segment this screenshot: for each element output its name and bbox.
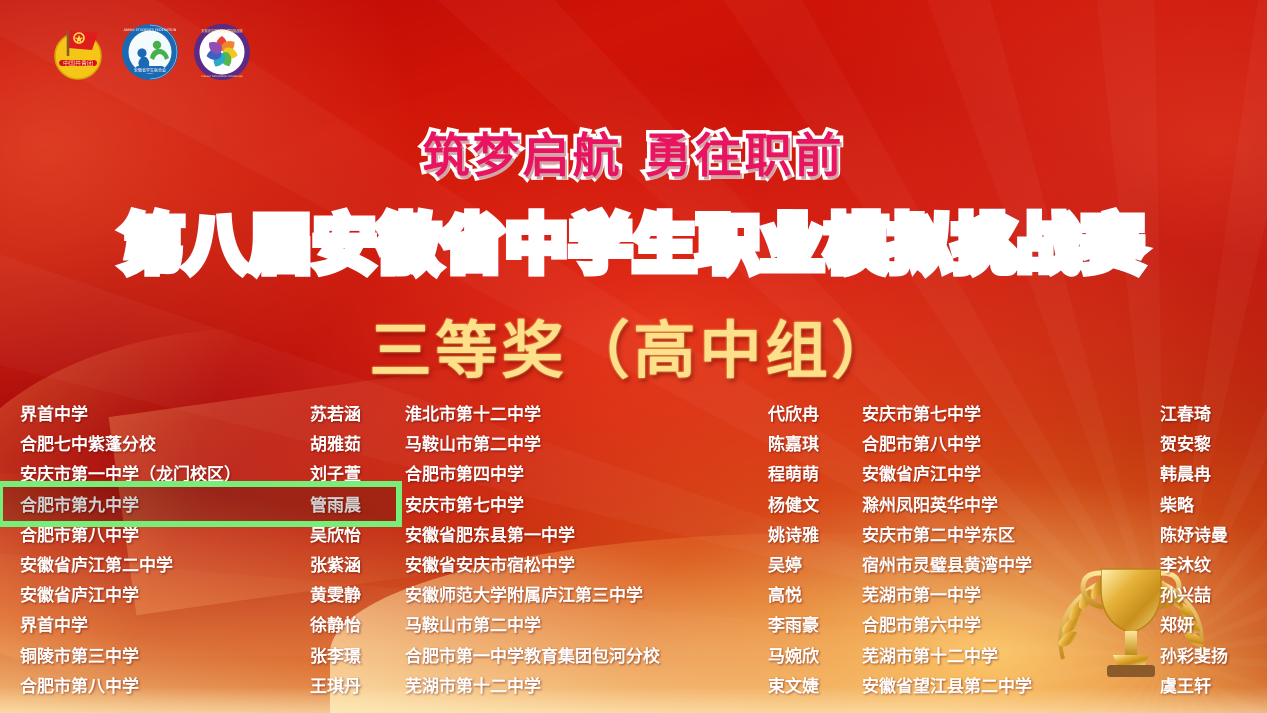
award-title: 三等奖（高中组） [0,300,1267,390]
name-col-3: 柴略 [1160,495,1194,517]
svg-text:Career Simulation Challenge: Career Simulation Challenge [201,74,243,78]
svg-text:安徽省学生联合会: 安徽省学生联合会 [134,66,166,72]
table-row[interactable]: 安徽省庐江第二中学张紫涵安徽省安庆市宿松中学吴婷宿州市灵璧县黄湾中学李沐纹 [0,551,1267,581]
slogan-right: 勇往职前 [645,129,845,182]
school-col-2: 马鞍山市第二中学 [405,615,541,637]
svg-text:安徽省中学生职业模拟挑战赛: 安徽省中学生职业模拟挑战赛 [201,28,243,33]
table-row[interactable]: 合肥七中紫蓬分校胡雅茹马鞍山市第二中学陈嘉琪合肥市第八中学贺安黎 [0,430,1267,460]
school-col-2: 安徽师范大学附属庐江第三中学 [405,585,643,607]
school-col-3: 宿州市灵璧县黄湾中学 [862,555,1032,577]
school-col-1: 合肥市第八中学 [20,525,139,547]
name-col-2: 程萌萌 [768,464,819,486]
name-col-2: 陈嘉琪 [768,434,819,456]
school-col-2: 马鞍山市第二中学 [405,434,541,456]
name-col-2: 高悦 [768,585,802,607]
name-col-3: 孙彩斐扬 [1160,646,1228,668]
name-col-1: 胡雅茹 [310,434,361,456]
students-federation-emblem: ANHUI STUDENTS FEDERATION 安徽省学生联合会 [120,22,180,82]
school-col-1: 安徽省庐江第二中学 [20,555,173,577]
name-col-2: 李雨豪 [768,615,819,637]
poster-canvas: 中国共青团 ANHUI STUDENTS FEDERATION 安徽省学生联合会 [0,0,1267,713]
school-col-3: 合肥市第八中学 [862,434,981,456]
school-col-1: 界首中学 [20,615,88,637]
name-col-3: 陈妤诗曼 [1160,525,1228,547]
school-col-2: 淮北市第十二中学 [405,404,541,426]
name-col-3: 韩晨冉 [1160,464,1211,486]
school-col-2: 安庆市第七中学 [405,495,524,517]
school-col-3: 合肥市第六中学 [862,615,981,637]
school-col-2: 合肥市第四中学 [405,464,524,486]
school-col-1: 安徽省庐江中学 [20,585,139,607]
name-col-3: 李沐纹 [1160,555,1211,577]
communist-youth-league-emblem: 中国共青团 [48,22,108,82]
school-col-2: 安徽省安庆市宿松中学 [405,555,575,577]
name-col-2: 代欣冉 [768,404,819,426]
name-col-2: 姚诗雅 [768,525,819,547]
highlighted-row-box[interactable] [0,481,402,527]
school-col-3: 滁州凤阳英华中学 [862,495,998,517]
school-col-1: 界首中学 [20,404,88,426]
name-col-1: 吴欣怡 [310,525,361,547]
name-col-2: 杨健文 [768,495,819,517]
main-title: 第八届安徽省中学生职业模拟挑战赛 [0,194,1267,284]
table-row[interactable]: 安徽省庐江中学黄雯静安徽师范大学附属庐江第三中学高悦芜湖市第一中学孙兴喆 [0,581,1267,611]
name-col-1: 苏若涵 [310,404,361,426]
name-col-3: 江春琦 [1160,404,1211,426]
name-col-2: 马婉欣 [768,646,819,668]
school-col-1: 铜陵市第三中学 [20,646,139,668]
name-col-1: 徐静怡 [310,615,361,637]
school-col-3: 安庆市第二中学东区 [862,525,1015,547]
table-row[interactable]: 界首中学苏若涵淮北市第十二中学代欣冉安庆市第七中学江春琦 [0,400,1267,430]
bottom-fade [0,687,1267,713]
logo-row: 中国共青团 ANHUI STUDENTS FEDERATION 安徽省学生联合会 [48,22,252,82]
name-col-1: 张紫涵 [310,555,361,577]
school-col-1: 合肥七中紫蓬分校 [20,434,156,456]
school-col-3: 安庆市第七中学 [862,404,981,426]
name-col-3: 孙兴喆 [1160,585,1211,607]
svg-text:中国共青团: 中国共青团 [63,60,93,68]
school-col-3: 芜湖市第一中学 [862,585,981,607]
name-col-1: 张李璟 [310,646,361,668]
name-col-3: 贺安黎 [1160,434,1211,456]
school-col-2: 安徽省肥东县第一中学 [405,525,575,547]
name-col-2: 吴婷 [768,555,802,577]
slogan-left: 筑梦启航 [423,129,623,182]
school-col-2: 合肥市第一中学教育集团包河分校 [405,646,660,668]
svg-text:ANHUI STUDENTS FEDERATION: ANHUI STUDENTS FEDERATION [124,28,177,32]
school-col-3: 安徽省庐江中学 [862,464,981,486]
school-col-3: 芜湖市第十二中学 [862,646,998,668]
name-col-3: 郑妍 [1160,615,1194,637]
name-col-1: 黄雯静 [310,585,361,607]
table-row[interactable]: 界首中学徐静怡马鞍山市第二中学李雨豪合肥市第六中学郑妍 [0,611,1267,641]
poster-slogan: 筑梦启航勇往职前 [0,117,1267,186]
table-row[interactable]: 铜陵市第三中学张李璟合肥市第一中学教育集团包河分校马婉欣芜湖市第十二中学孙彩斐扬 [0,642,1267,672]
winners-list: 界首中学苏若涵淮北市第十二中学代欣冉安庆市第七中学江春琦合肥七中紫蓬分校胡雅茹马… [0,400,1267,702]
career-challenge-emblem: 安徽省中学生职业模拟挑战赛 Career Simulation Challeng… [192,22,252,82]
